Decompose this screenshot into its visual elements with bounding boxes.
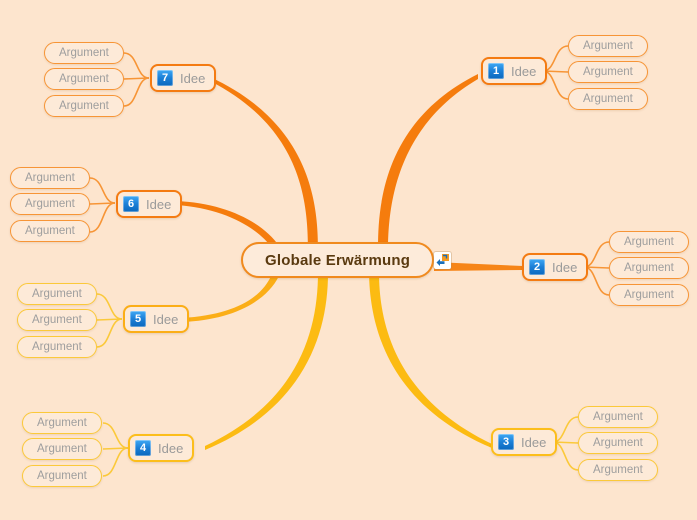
argument-label: Argument bbox=[59, 73, 109, 85]
idea-label-5: Idee bbox=[153, 312, 178, 327]
argument-node-5-3[interactable]: Argument bbox=[17, 336, 97, 358]
argument-node-1-1[interactable]: Argument bbox=[568, 35, 648, 57]
branch-edge-3 bbox=[369, 272, 492, 448]
argument-node-6-2[interactable]: Argument bbox=[10, 193, 90, 215]
idea-node-2[interactable]: 2 Idee bbox=[522, 253, 588, 281]
argument-label: Argument bbox=[32, 288, 82, 300]
branch-edge-6 bbox=[176, 201, 279, 248]
argument-node-5-2[interactable]: Argument bbox=[17, 309, 97, 331]
mindmap-canvas[interactable]: Globale Erwärmung 1 Idee 2 Idee 3 Idee 4… bbox=[0, 0, 697, 520]
argument-label: Argument bbox=[59, 100, 109, 112]
argument-label: Argument bbox=[32, 341, 82, 353]
idea-label-7: Idee bbox=[180, 71, 205, 86]
root-node[interactable]: Globale Erwärmung bbox=[241, 242, 434, 278]
argument-node-7-1[interactable]: Argument bbox=[44, 42, 124, 64]
argument-node-3-2[interactable]: Argument bbox=[578, 432, 658, 454]
argument-label: Argument bbox=[593, 437, 643, 449]
argument-node-6-3[interactable]: Argument bbox=[10, 220, 90, 242]
argument-node-4-1[interactable]: Argument bbox=[22, 412, 102, 434]
argument-label: Argument bbox=[583, 93, 633, 105]
argument-label: Argument bbox=[32, 314, 82, 326]
argument-node-1-2[interactable]: Argument bbox=[568, 61, 648, 83]
argument-node-7-3[interactable]: Argument bbox=[44, 95, 124, 117]
idea-label-2: Idee bbox=[552, 260, 577, 275]
argument-label: Argument bbox=[593, 464, 643, 476]
branch-edge-1 bbox=[378, 74, 478, 251]
idea-label-1: Idee bbox=[511, 64, 536, 79]
idea-badge-2: 2 bbox=[529, 259, 545, 275]
leaf-edges-4 bbox=[103, 423, 128, 476]
argument-node-6-1[interactable]: Argument bbox=[10, 167, 90, 189]
argument-label: Argument bbox=[37, 443, 87, 455]
idea-node-6[interactable]: 6 Idee bbox=[116, 190, 182, 218]
leaf-edges-7 bbox=[124, 53, 149, 106]
attachment-icon[interactable] bbox=[434, 252, 451, 269]
argument-node-1-3[interactable]: Argument bbox=[568, 88, 648, 110]
argument-label: Argument bbox=[624, 262, 674, 274]
idea-badge-6: 6 bbox=[123, 196, 139, 212]
argument-node-2-2[interactable]: Argument bbox=[609, 257, 689, 279]
argument-node-3-1[interactable]: Argument bbox=[578, 406, 658, 428]
argument-label: Argument bbox=[593, 411, 643, 423]
argument-label: Argument bbox=[59, 47, 109, 59]
leaf-edges-6 bbox=[90, 178, 115, 232]
argument-label: Argument bbox=[624, 236, 674, 248]
branch-edge-4 bbox=[205, 272, 328, 450]
idea-node-1[interactable]: 1 Idee bbox=[481, 57, 547, 85]
argument-node-7-2[interactable]: Argument bbox=[44, 68, 124, 90]
argument-label: Argument bbox=[583, 66, 633, 78]
idea-badge-5: 5 bbox=[130, 311, 146, 327]
argument-label: Argument bbox=[37, 417, 87, 429]
argument-node-4-2[interactable]: Argument bbox=[22, 438, 102, 460]
idea-label-4: Idee bbox=[158, 441, 183, 456]
branch-edge-5 bbox=[182, 274, 279, 322]
idea-badge-1: 1 bbox=[488, 63, 504, 79]
idea-node-7[interactable]: 7 Idee bbox=[150, 64, 216, 92]
argument-node-5-1[interactable]: Argument bbox=[17, 283, 97, 305]
argument-label: Argument bbox=[25, 225, 75, 237]
argument-node-2-1[interactable]: Argument bbox=[609, 231, 689, 253]
idea-badge-3: 3 bbox=[498, 434, 514, 450]
idea-node-5[interactable]: 5 Idee bbox=[123, 305, 189, 333]
branch-edge-7 bbox=[210, 77, 318, 251]
idea-label-6: Idee bbox=[146, 197, 171, 212]
idea-node-4[interactable]: 4 Idee bbox=[128, 434, 194, 462]
leaf-edges-5 bbox=[97, 294, 122, 347]
argument-node-3-3[interactable]: Argument bbox=[578, 459, 658, 481]
idea-label-3: Idee bbox=[521, 435, 546, 450]
idea-badge-7: 7 bbox=[157, 70, 173, 86]
argument-label: Argument bbox=[624, 289, 674, 301]
idea-badge-4: 4 bbox=[135, 440, 151, 456]
idea-node-3[interactable]: 3 Idee bbox=[491, 428, 557, 456]
argument-label: Argument bbox=[25, 198, 75, 210]
argument-node-4-3[interactable]: Argument bbox=[22, 465, 102, 487]
argument-label: Argument bbox=[25, 172, 75, 184]
argument-label: Argument bbox=[583, 40, 633, 52]
argument-node-2-3[interactable]: Argument bbox=[609, 284, 689, 306]
argument-label: Argument bbox=[37, 470, 87, 482]
root-label: Globale Erwärmung bbox=[265, 252, 410, 269]
